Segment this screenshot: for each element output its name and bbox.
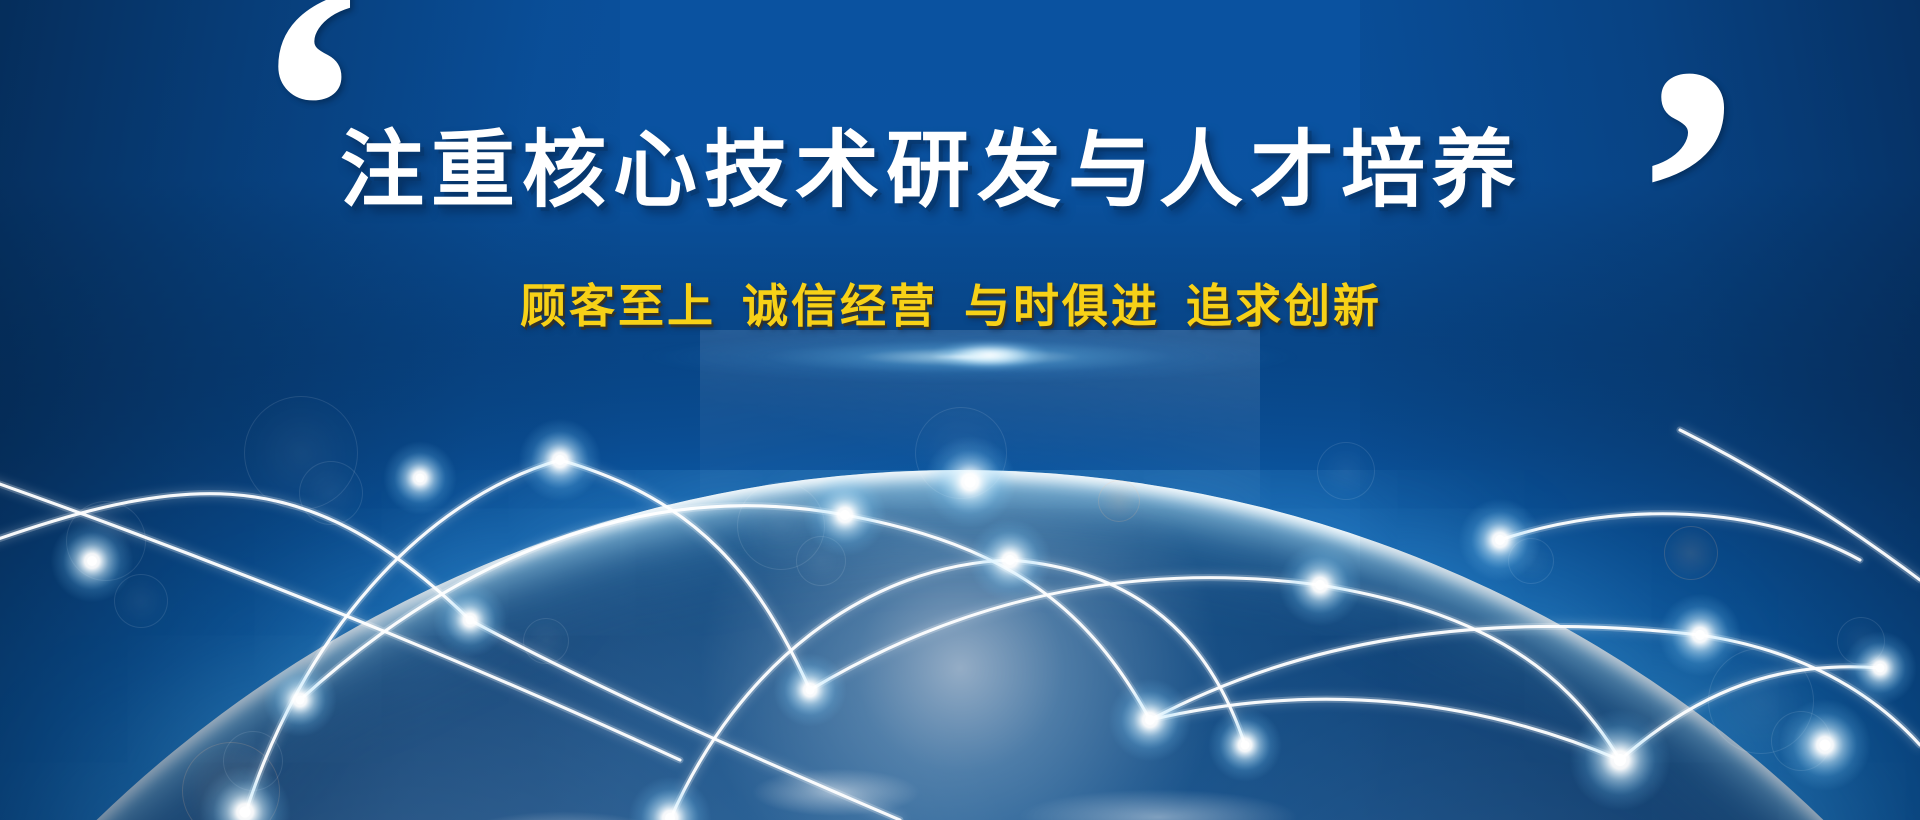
subtitle-segment-3: 与时俱进 — [964, 281, 1160, 332]
banner-subtitle: 顾客至上诚信经营与时俱进追求创新 — [520, 284, 1382, 330]
banner-text-layer: ‘ 注重核心技术研发与人才培养 顾客至上诚信经营与时俱进追求创新 ’ — [0, 0, 1920, 820]
banner-headline: 注重核心技术研发与人才培养 — [340, 128, 1523, 212]
subtitle-segment-4: 追求创新 — [1186, 281, 1382, 332]
subtitle-segment-2: 诚信经营 — [742, 281, 938, 332]
promotional-banner: ‘ 注重核心技术研发与人才培养 顾客至上诚信经营与时俱进追求创新 ’ — [0, 0, 1920, 820]
closing-quote-icon: ’ — [1630, 12, 1750, 372]
subtitle-segment-1: 顾客至上 — [520, 281, 716, 332]
